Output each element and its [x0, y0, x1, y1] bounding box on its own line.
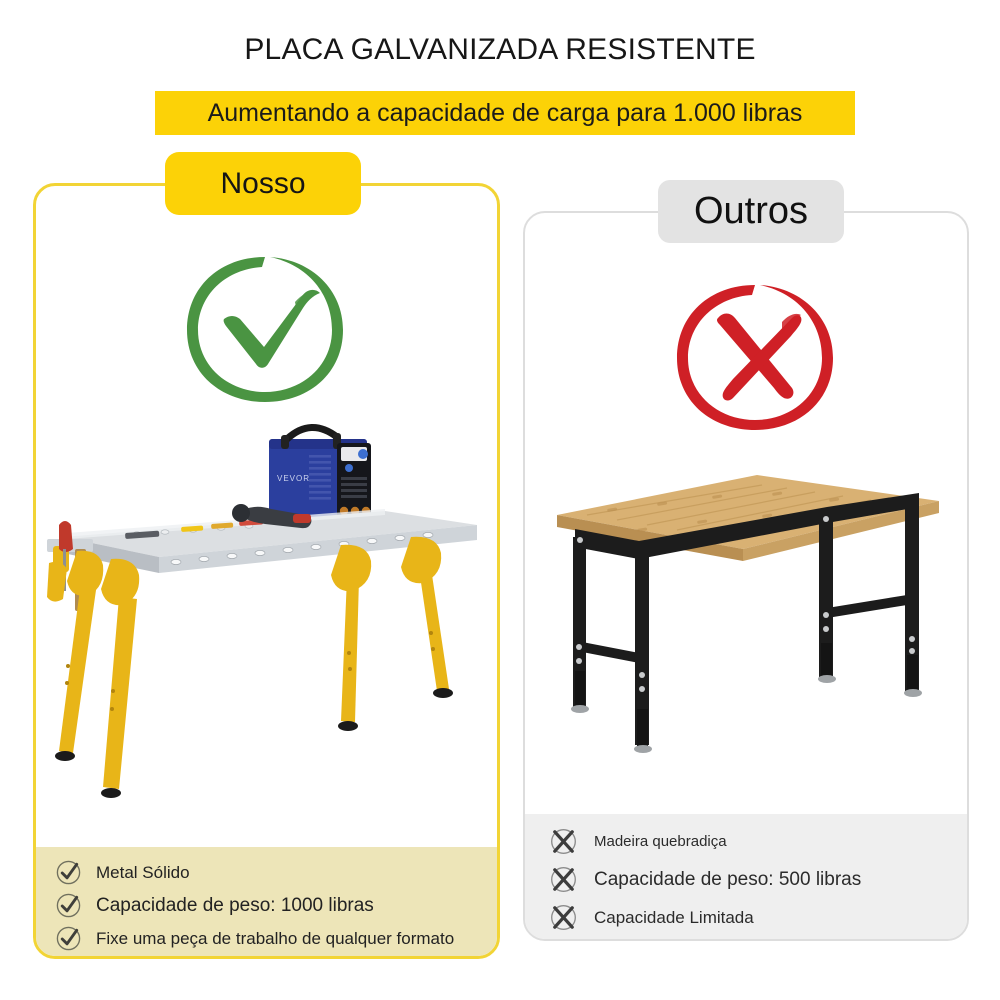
cross-circle-icon [549, 865, 578, 894]
list-item: Fixe uma peça de trabalho de qualquer fo… [33, 924, 500, 953]
product-image-workbench [547, 457, 947, 807]
cross-circle-icon [549, 827, 578, 856]
ours-badge-label: Nosso [220, 167, 305, 201]
list-item-label: Capacidade de peso: 1000 libras [96, 895, 374, 917]
list-item: Metal Sólido [33, 858, 500, 887]
check-circle-icon [55, 892, 82, 919]
cross-circle-icon [549, 903, 578, 932]
list-item: Capacidade de peso: 1000 libras [33, 891, 500, 920]
subtitle-text: Aumentando a capacidade de carga para 1.… [208, 99, 803, 128]
others-badge: Outros [658, 180, 844, 243]
subtitle-banner: Aumentando a capacidade de carga para 1.… [155, 91, 855, 135]
others-card: Madeira quebradiça Capacidade de peso: 5… [523, 211, 969, 941]
list-item: Madeira quebradiça [523, 825, 969, 858]
ours-card: VEVOR [33, 183, 500, 959]
check-circle-icon [55, 925, 82, 952]
list-item-label: Madeira quebradiça [594, 833, 727, 850]
list-item-label: Fixe uma peça de trabalho de qualquer fo… [96, 929, 454, 949]
red-cross-circle-icon [670, 280, 840, 435]
others-badge-label: Outros [694, 190, 808, 233]
ours-feature-list: Metal Sólido Capacidade de peso: 1000 li… [33, 847, 500, 956]
others-feature-list: Madeira quebradiça Capacidade de peso: 5… [523, 814, 969, 939]
list-item: Capacidade Limitada [523, 901, 969, 934]
list-item-label: Metal Sólido [96, 863, 190, 883]
check-circle-icon [55, 859, 82, 886]
product-image-welding-table: VEVOR [41, 421, 500, 821]
green-check-circle-icon [180, 252, 350, 407]
list-item: Capacidade de peso: 500 libras [523, 863, 969, 896]
svg-text:VEVOR: VEVOR [277, 474, 310, 483]
ours-badge: Nosso [165, 152, 361, 215]
list-item-label: Capacidade de peso: 500 libras [594, 869, 861, 891]
page-title: PLACA GALVANIZADA RESISTENTE [0, 33, 1000, 67]
list-item-label: Capacidade Limitada [594, 908, 754, 928]
comparison-infographic: PLACA GALVANIZADA RESISTENTE Aumentando … [0, 0, 1000, 1000]
